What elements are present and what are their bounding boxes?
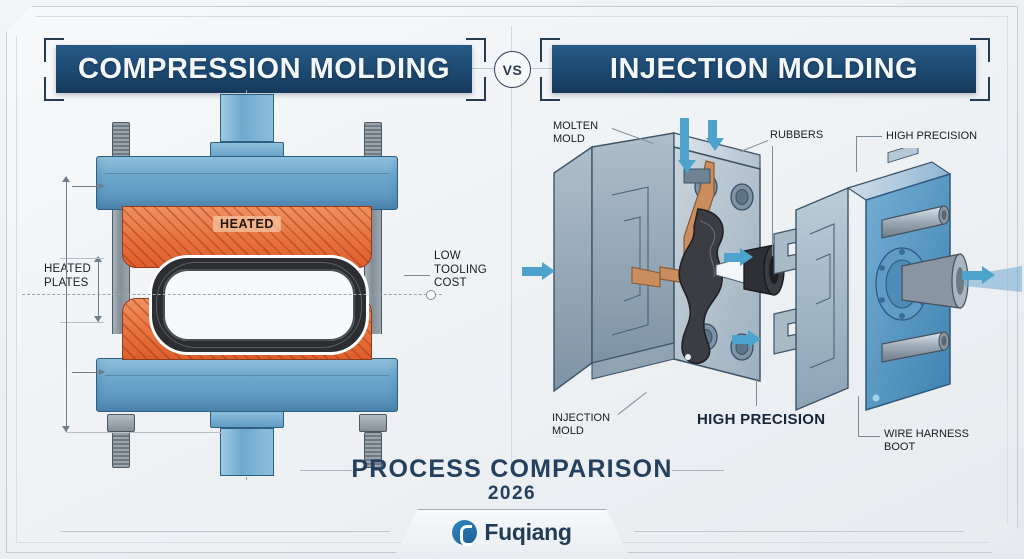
title-banner-injection: INJECTION MOLDING xyxy=(552,45,976,93)
arrow-tip xyxy=(678,160,696,173)
high-precision-top-leader xyxy=(856,136,882,137)
flow-arrow-part-lower xyxy=(732,330,761,348)
fuqiang-logo-icon xyxy=(452,520,477,545)
low-tooling-cost-leader xyxy=(404,275,430,276)
rubbers-leader-vertical xyxy=(772,146,773,256)
high-precision-main-callout: HIGH PRECISION xyxy=(697,413,825,427)
compression-title-text: COMPRESSION MOLDING xyxy=(78,53,450,86)
injection-arrow-down-right xyxy=(706,120,724,151)
arrow-stem xyxy=(680,118,689,160)
flow-arrow-outlet xyxy=(962,266,995,284)
centerline-marker xyxy=(426,290,436,300)
center-divider xyxy=(511,26,512,473)
rubber-gasket-part xyxy=(152,258,366,352)
dimension-line-press-height xyxy=(66,178,67,432)
high-precision-main-leader xyxy=(756,378,757,406)
wire-harness-boot-callout: WIRE HARNESS BOOT xyxy=(884,428,969,454)
injection-unit-blue xyxy=(792,148,1024,428)
flow-arrow-inlet xyxy=(522,262,555,280)
wire-harness-leader-v xyxy=(858,396,859,436)
platen-seam xyxy=(105,173,389,174)
bracket-right-bottom-right xyxy=(970,77,990,101)
heated-plates-callout: HEATED PLATES xyxy=(44,263,91,290)
footer-side-rule-right xyxy=(634,531,964,532)
low-tooling-cost-callout: LOW TOOLING COST xyxy=(434,250,487,291)
vs-connector-right xyxy=(529,68,552,69)
wire-harness-leader xyxy=(858,436,880,437)
infographic-canvas: COMPRESSION MOLDING INJECTION MOLDING VS xyxy=(0,0,1024,559)
title-banner-compression: COMPRESSION MOLDING xyxy=(56,45,472,93)
molten-mold-callout: MOLTEN MOLD xyxy=(553,120,598,146)
press-extension-bottom xyxy=(66,432,226,433)
dimension-arrow-up xyxy=(94,256,102,262)
bracket-right-top-left xyxy=(540,38,560,62)
dimension-line-heated-plates xyxy=(98,258,99,322)
footer-year: 2026 xyxy=(0,483,1024,505)
arrow-stem xyxy=(962,271,982,280)
arrow-tip xyxy=(740,248,753,266)
footer-title: PROCESS COMPARISON xyxy=(0,455,1024,484)
platen-top xyxy=(96,156,398,210)
bracket-right-bottom-left xyxy=(540,77,560,101)
arrow-tip xyxy=(706,138,724,151)
flow-arrow-part-upper xyxy=(724,248,753,266)
high-precision-top-leader-v xyxy=(856,136,857,172)
press-horizontal-centerline xyxy=(22,294,442,295)
bolt-head xyxy=(107,414,135,432)
arrow-stem xyxy=(708,120,717,138)
arrow-stem xyxy=(732,335,748,344)
ram-collar xyxy=(210,410,284,428)
arrow-stem xyxy=(522,267,542,276)
hydraulic-ram-top xyxy=(220,94,272,160)
brand-name: Fuqiang xyxy=(484,519,571,546)
arrow-tip xyxy=(542,262,555,280)
ram-shaft xyxy=(220,94,274,142)
high-precision-top-callout: HIGH PRECISION xyxy=(886,130,977,143)
vs-badge-text: VS xyxy=(503,62,523,78)
press-indicator-arrow-top xyxy=(72,186,104,187)
bracket-left-top-left xyxy=(44,38,64,62)
rubbers-callout: RUBBERS xyxy=(770,129,823,142)
injection-arrow-down-left xyxy=(678,118,696,173)
bracket-left-bottom-left xyxy=(44,77,64,101)
bolt-shank xyxy=(112,122,130,158)
injection-title-text: INJECTION MOLDING xyxy=(610,53,918,86)
arrow-tip xyxy=(748,330,761,348)
press-dimension-arrow-up xyxy=(62,176,70,182)
vs-badge: VS xyxy=(494,51,531,88)
footer-side-rule-left xyxy=(60,531,390,532)
press-indicator-arrow-bottom xyxy=(72,372,104,373)
brand-logo-plate: Fuqiang xyxy=(396,509,628,554)
bolt-shank xyxy=(364,122,382,158)
arrow-tip xyxy=(982,266,995,284)
bracket-left-bottom-right xyxy=(466,77,486,101)
platen-bottom xyxy=(96,358,398,412)
bracket-right-top-right xyxy=(970,38,990,62)
platen-seam xyxy=(105,375,389,376)
bracket-left-top-right xyxy=(466,38,486,62)
compression-press-diagram: HEATED HEATED xyxy=(96,128,396,438)
vs-connector-left xyxy=(472,68,494,69)
heated-label-top: HEATED xyxy=(213,216,281,232)
arrow-stem xyxy=(724,253,740,262)
bolt-head xyxy=(359,414,387,432)
injection-mold-callout: INJECTION MOLD xyxy=(552,412,610,438)
